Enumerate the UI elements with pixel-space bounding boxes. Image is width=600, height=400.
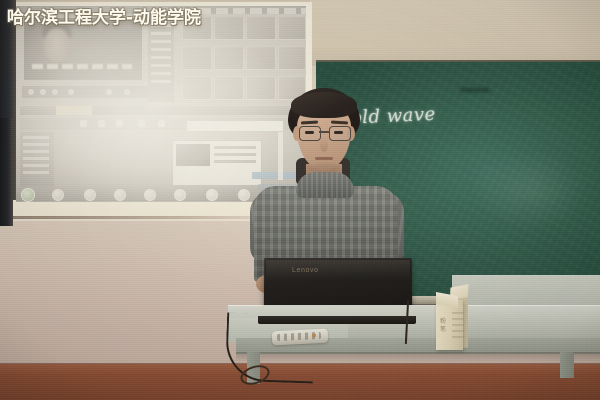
projected-taskbar-icon: [238, 189, 250, 201]
projected-taskbar-icon: [114, 189, 126, 201]
projected-playlist-row: [151, 64, 171, 67]
projected-toolbar-icon: [138, 120, 145, 127]
presenter-hair-fringe: [291, 92, 357, 118]
desk-leg-right: [560, 352, 574, 378]
desk-riser: [452, 276, 600, 308]
projected-nav-column: [20, 132, 54, 188]
projected-thumbnail: [214, 16, 244, 40]
projected-scrollbar: [278, 132, 283, 180]
projected-playlist-sidebar: [148, 18, 174, 102]
wall-upper-band: [310, 0, 600, 66]
classroom-photo: Gold wave: [0, 0, 600, 400]
projected-thumbnail: [278, 46, 306, 70]
projected-prev-icon: [40, 89, 46, 95]
projected-playlist-row: [151, 32, 171, 35]
lenovo-brand-logo: Lenovo: [292, 267, 319, 274]
chalk-box-side-print: [452, 312, 464, 338]
projected-thumbnail: [246, 46, 276, 70]
presenter-nose: [320, 138, 328, 152]
blackboard-smudge: [460, 88, 490, 92]
presenter-collar-knit-texture: [296, 172, 354, 198]
projected-thumbnail-grid: [182, 16, 306, 102]
projected-subtitle-line: [32, 64, 132, 69]
projected-volume-icon: [68, 89, 74, 95]
presenter-right-eye: [334, 131, 343, 134]
projection-screen-frame-lower: [0, 118, 13, 226]
presenter-mouth: [315, 157, 333, 160]
projected-toolbar-icon: [116, 120, 123, 127]
institution-watermark: 哈尔滨工程大学-动能学院: [7, 8, 201, 28]
projected-fullscreen-icon: [106, 89, 112, 95]
projected-inner-preview: [176, 144, 210, 166]
projected-taskbar-icon: [144, 189, 156, 201]
projected-toolbar-icon: [80, 120, 87, 127]
projected-inner-row: [214, 153, 256, 156]
projected-next-icon: [52, 89, 58, 95]
remote-indicator-led: [312, 334, 316, 337]
projected-search-box: [186, 120, 284, 132]
projected-active-tab: [56, 106, 92, 115]
projected-taskbar-icon: [174, 189, 186, 201]
projected-thumbnail: [182, 76, 212, 100]
projected-nav-row: [23, 171, 49, 174]
projected-settings-icon: [124, 89, 130, 95]
projected-nav-row: [23, 143, 49, 146]
projected-playlist-row: [151, 72, 171, 75]
projected-inner-row: [214, 146, 256, 149]
wall-seam-highlight: [0, 219, 250, 221]
projected-thumbnail: [214, 46, 244, 70]
eyeglasses-bridge: [319, 131, 329, 133]
projected-thumbnail: [246, 76, 276, 100]
projected-thumbnail: [182, 46, 212, 70]
projected-taskbar-icon: [206, 189, 218, 201]
projected-playlist-row: [151, 56, 171, 59]
projected-video-person-face: [44, 28, 70, 62]
projected-thumbnail: [246, 16, 276, 40]
chalk-box-label: 粉笔: [440, 318, 449, 334]
projected-taskbar-icon: [52, 189, 64, 201]
blackboard-chalk-haze: [470, 150, 590, 230]
projected-thumbnail: [278, 16, 306, 40]
projected-desktop: [6, 2, 312, 216]
projected-nav-row: [23, 150, 49, 153]
projected-nav-row: [23, 164, 49, 167]
projected-play-icon: [28, 89, 34, 95]
projected-inner-row: [214, 160, 256, 163]
laptop-lid-sheen: [266, 260, 410, 280]
projected-taskbar-icon: [84, 189, 96, 201]
projection-screen: [6, 2, 312, 216]
presenter-left-eye: [305, 131, 314, 134]
projected-start-button-icon: [21, 188, 35, 202]
projected-thumbnail: [214, 76, 244, 100]
projected-toolbar-icon: [98, 120, 105, 127]
projected-playlist-row: [151, 48, 171, 51]
projected-playlist-row: [151, 40, 171, 43]
projected-nav-row: [23, 136, 49, 139]
projected-toolbar-icon: [158, 120, 165, 127]
presenter-chin-shadow: [306, 164, 342, 173]
projected-nav-row: [23, 157, 49, 160]
projected-playlist-row: [151, 80, 171, 83]
